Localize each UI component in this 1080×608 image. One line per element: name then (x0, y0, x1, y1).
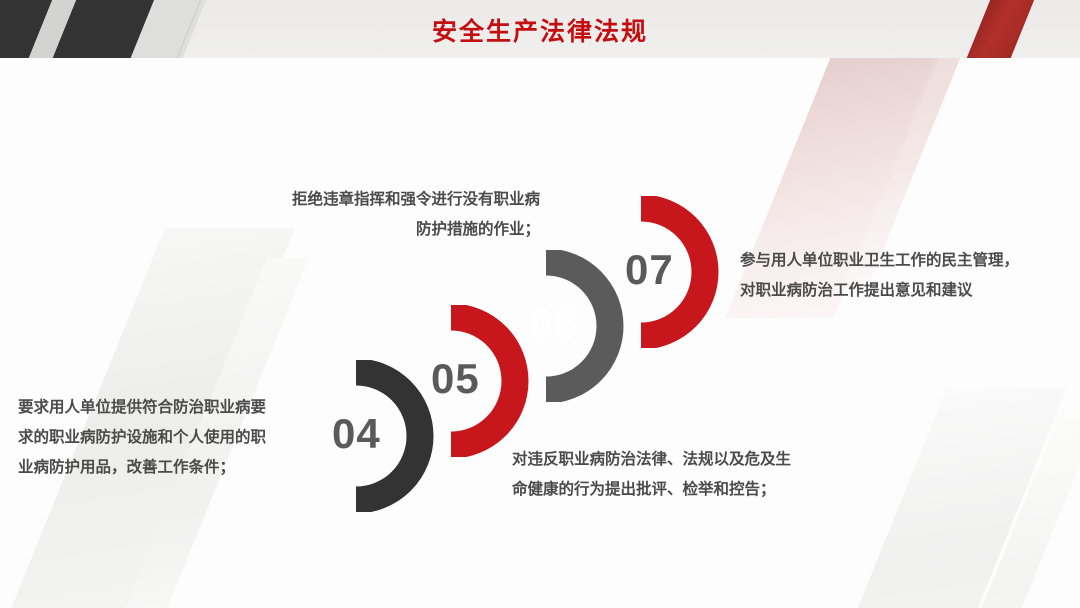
step-number-05: 05 (431, 355, 480, 403)
step-number-07: 07 (625, 246, 674, 294)
step-caption-04: 要求用人单位提供符合防治职业病要 求的职业病防护设施和个人使用的职 业病防护用品… (18, 393, 318, 483)
slide-canvas: 安全生产法律法规 04 05 06 07 要求用人单位提供符合防治职业病 (0, 0, 1080, 608)
step-number-04: 04 (332, 410, 381, 458)
step-number-06: 06 (530, 300, 579, 348)
page-title: 安全生产法律法规 (0, 12, 1080, 48)
step-caption-07: 参与用人单位职业卫生工作的民主管理， 对职业病防治工作提出意见和建议 (740, 246, 1070, 306)
step-caption-05: 拒绝违章指挥和强令进行没有职业病 防护措施的作业； (200, 185, 540, 245)
step-caption-06: 对违反职业病防治法律、法规以及危及生 命健康的行为提出批评、检举和控告； (512, 445, 882, 505)
